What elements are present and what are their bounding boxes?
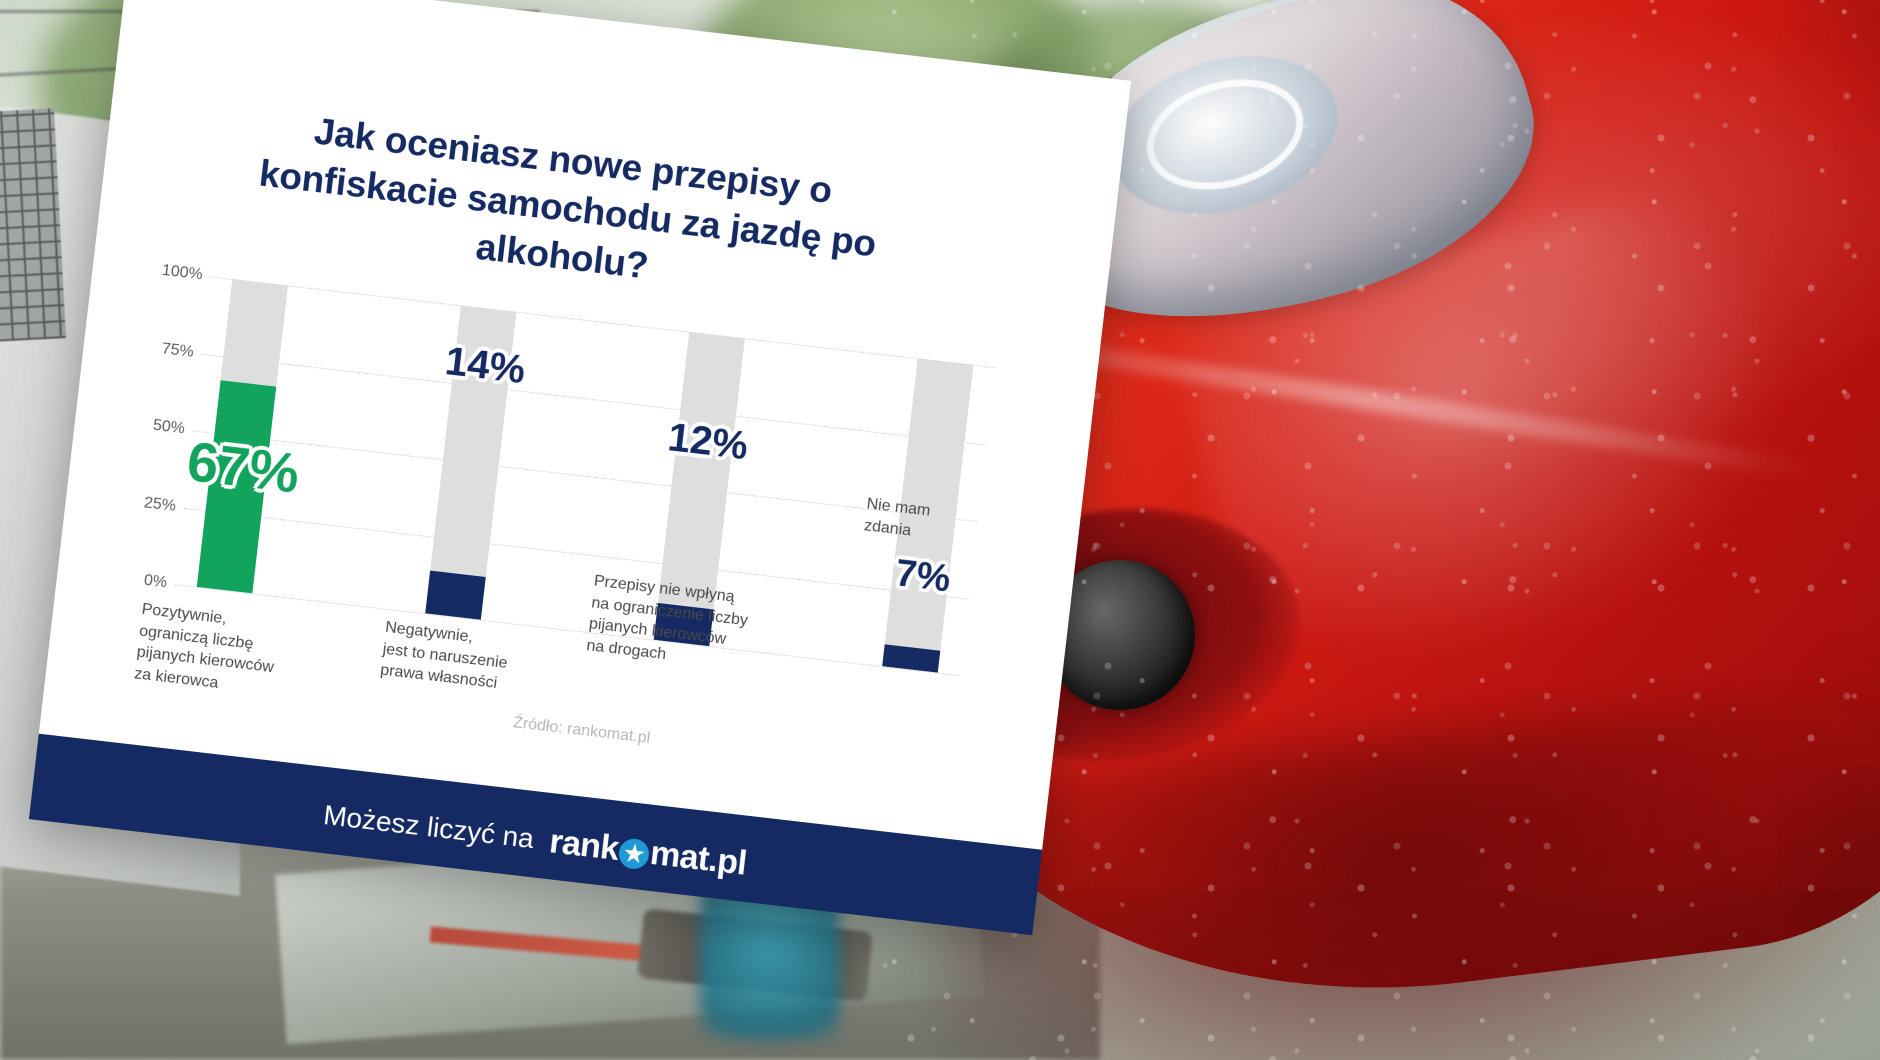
category-label: Pozytywnie, ograniczą liczbę pijanych ki… bbox=[133, 599, 280, 701]
blue-object bbox=[700, 890, 840, 1040]
rankomat-logo[interactable]: rank mat.pl bbox=[547, 822, 748, 883]
bar-value-label: 67% bbox=[184, 428, 303, 505]
y-axis-tick-label: 75% bbox=[123, 336, 194, 360]
bar-column[interactable]: 14% bbox=[425, 305, 516, 619]
bar-value-label: 14% bbox=[443, 339, 528, 393]
bar-fill bbox=[425, 570, 486, 620]
bar-value-label: 12% bbox=[666, 415, 751, 469]
infographic-card: Jak oceniasz nowe przepisy o konfiskacie… bbox=[29, 0, 1131, 935]
y-axis-tick-label: 25% bbox=[105, 490, 176, 514]
card-surface: Jak oceniasz nowe przepisy o konfiskacie… bbox=[29, 0, 1131, 935]
screenshot-stage: Jak oceniasz nowe przepisy o konfiskacie… bbox=[0, 0, 1880, 1060]
category-label: Negatywnie, jest to naruszenie prawa wła… bbox=[379, 617, 511, 696]
bar-chart: 100%75%50%25%0% 67%14%12%7% Pozytywnie, … bbox=[175, 276, 995, 675]
footer-tagline: Możesz liczyć na bbox=[322, 799, 536, 855]
y-axis-tick-label: 50% bbox=[114, 413, 185, 437]
y-axis-tick-label: 0% bbox=[96, 567, 167, 591]
category-label: Przepisy nie wpłyną na ograniczenie licz… bbox=[585, 571, 751, 675]
bar-value-label: 7% bbox=[893, 552, 953, 601]
y-axis-tick-label: 100% bbox=[132, 259, 203, 283]
logo-text-left: rank bbox=[547, 822, 620, 869]
star-icon bbox=[618, 837, 651, 870]
logo-text-right: mat.pl bbox=[648, 833, 748, 883]
chart-bars: 67%14%12%7% bbox=[175, 276, 995, 675]
bar-column[interactable]: 67% bbox=[197, 279, 288, 593]
source-note: Źródło: rankomat.pl bbox=[512, 714, 651, 748]
